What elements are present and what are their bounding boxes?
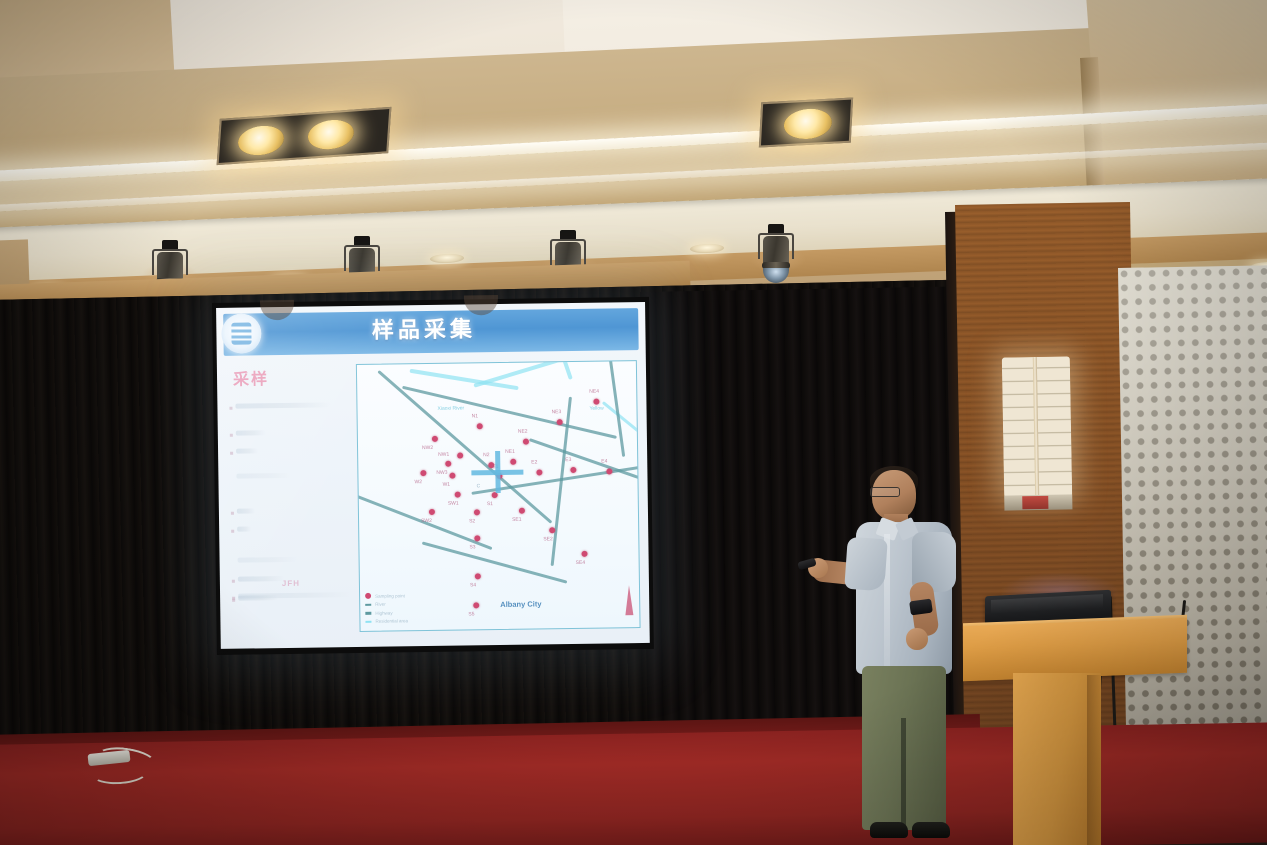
map-point-label: SE2 <box>543 536 553 542</box>
map-compass-icon <box>623 585 633 619</box>
map-sampling-point <box>475 573 481 579</box>
sconce-center-bar <box>1033 357 1039 497</box>
map-point-label: SW2 <box>421 518 432 524</box>
list-item <box>230 447 350 458</box>
presentation-slide: 样品采集 采样 <box>216 302 650 649</box>
map-point-label: SE1 <box>512 517 522 523</box>
podium-column-shadow <box>1087 675 1103 845</box>
slide-left-column: 采样 <box>227 364 352 605</box>
legend-label: Residential area <box>375 618 408 623</box>
map-point-label: NW1 <box>438 452 449 458</box>
map-point-label: NW3 <box>436 470 447 476</box>
footnote-line <box>232 592 352 603</box>
lamp-glow <box>307 118 355 150</box>
map-point-label: E2 <box>531 459 537 465</box>
legend-item: River <box>365 600 465 607</box>
podium <box>963 593 1187 845</box>
map-point-label: NE2 <box>518 429 528 435</box>
track-spotlight-4 <box>754 224 798 286</box>
footnote-text <box>238 592 352 599</box>
bullet-text <box>237 508 255 513</box>
map-road <box>422 541 567 583</box>
legend-river-icon <box>365 603 371 605</box>
map-point-label: S5 <box>468 611 474 617</box>
map-river-label-secondary: Yellow <box>589 406 603 412</box>
bullet-icon <box>230 452 233 455</box>
legend-residential-icon <box>365 620 371 622</box>
map-point-label: E3 <box>565 457 571 463</box>
bullet-icon <box>231 530 234 533</box>
map-sampling-point <box>474 535 480 541</box>
footnote-tag: JFH <box>230 578 352 589</box>
map-river <box>630 360 641 432</box>
presenter-shoe-right <box>912 822 950 838</box>
map-point-label: SE4 <box>576 560 586 566</box>
map-point-label: N1 <box>472 413 478 419</box>
sampling-site-map: NE4 NE3 NE2 NE1 N1 NW1 NW2 NW3 N2 E1 <box>356 360 641 632</box>
recessed-single-spotlight-icon <box>759 97 853 147</box>
map-point-label: NE4 <box>589 389 599 395</box>
bullet-text <box>236 448 258 453</box>
lamp-glow <box>237 124 285 156</box>
map-sampling-point <box>593 399 599 405</box>
map-road <box>378 370 553 523</box>
legend-label: Highway <box>375 610 392 615</box>
map-point-label: E4 <box>601 458 607 464</box>
slide-footnote: JFH <box>230 578 352 603</box>
map-point-label: S3 <box>469 544 475 550</box>
map-point-label: NW2 <box>422 445 433 451</box>
map-sampling-point <box>519 508 525 514</box>
presentation-room-photo: 样品采集 采样 <box>0 0 1267 845</box>
bullet-icon <box>231 512 234 515</box>
bullet-text <box>236 430 266 435</box>
projection-screen: 样品采集 采样 <box>212 297 654 655</box>
laptop-lid-sheen <box>991 594 1103 614</box>
presenter-hand-right <box>906 628 928 650</box>
map-sampling-point <box>477 423 483 429</box>
bullet-text <box>236 473 290 479</box>
bullet-icon <box>232 597 235 600</box>
map-point-label: W1 <box>443 482 451 488</box>
slide-section-heading: 采样 <box>233 364 349 390</box>
legend-item: Highway <box>365 608 465 615</box>
map-point-label: S2 <box>469 518 475 524</box>
map-sampling-point <box>429 509 435 515</box>
legend-label: River <box>375 602 386 607</box>
glasses-icon <box>870 487 900 497</box>
list-item <box>229 402 349 413</box>
map-sampling-point <box>581 551 587 557</box>
map-sampling-point <box>570 467 576 473</box>
bullet-icon <box>229 407 232 410</box>
map-sampling-point <box>473 602 479 608</box>
map-center-label: C <box>477 483 481 489</box>
list-item <box>230 429 350 440</box>
presenter-shoe-left <box>870 822 908 838</box>
map-point-label: NE3 <box>552 409 562 415</box>
map-sampling-point <box>523 439 529 445</box>
map-sampling-point <box>457 453 463 459</box>
map-sampling-point <box>432 436 438 442</box>
map-point-label: S1 <box>487 501 493 507</box>
map-sampling-point <box>445 461 451 467</box>
map-sampling-point <box>420 470 426 476</box>
list-item <box>231 525 351 536</box>
list-item <box>230 472 350 483</box>
map-point-label: S4 <box>470 582 476 588</box>
map-sampling-point <box>474 509 480 515</box>
map-road <box>402 386 617 439</box>
map-point-label: SW1 <box>448 501 459 507</box>
bullet-text <box>235 402 331 408</box>
lamp-glow <box>783 108 833 141</box>
legend-label: Sampling point <box>375 593 405 598</box>
map-sampling-point <box>549 527 555 533</box>
legend-sampling-point-icon <box>365 593 371 599</box>
compass-needle <box>625 585 633 615</box>
map-legend: Sampling point River Highway Residential… <box>365 591 465 626</box>
map-city-label: Albany City <box>500 599 541 609</box>
map-point-label: W2 <box>414 479 422 485</box>
map-sampling-point <box>557 419 563 425</box>
legend-item: Residential area <box>365 617 465 624</box>
wall-sconce <box>1002 356 1072 497</box>
map-sampling-point <box>455 492 461 498</box>
bullet-text <box>238 557 298 563</box>
map-sampling-point <box>606 468 612 474</box>
crosshair-vertical <box>495 451 501 493</box>
spotlight-lens <box>763 268 789 283</box>
list-item <box>232 556 352 567</box>
map-sampling-point <box>536 469 542 475</box>
podium-top-surface <box>963 618 1187 682</box>
bullet-icon <box>230 434 233 437</box>
bullet-text <box>237 526 251 531</box>
pants-leg-seam <box>901 718 906 830</box>
map-river <box>409 369 518 391</box>
map-river <box>473 360 560 388</box>
sconce-red-accent <box>1022 496 1048 509</box>
legend-item: Sampling point <box>365 591 465 598</box>
map-river-label: Xiaoxi River <box>437 405 464 411</box>
list-item <box>231 507 351 518</box>
map-sampling-point <box>449 473 455 479</box>
legend-highway-icon <box>365 611 371 614</box>
presenter-sleeve-left <box>844 537 888 592</box>
